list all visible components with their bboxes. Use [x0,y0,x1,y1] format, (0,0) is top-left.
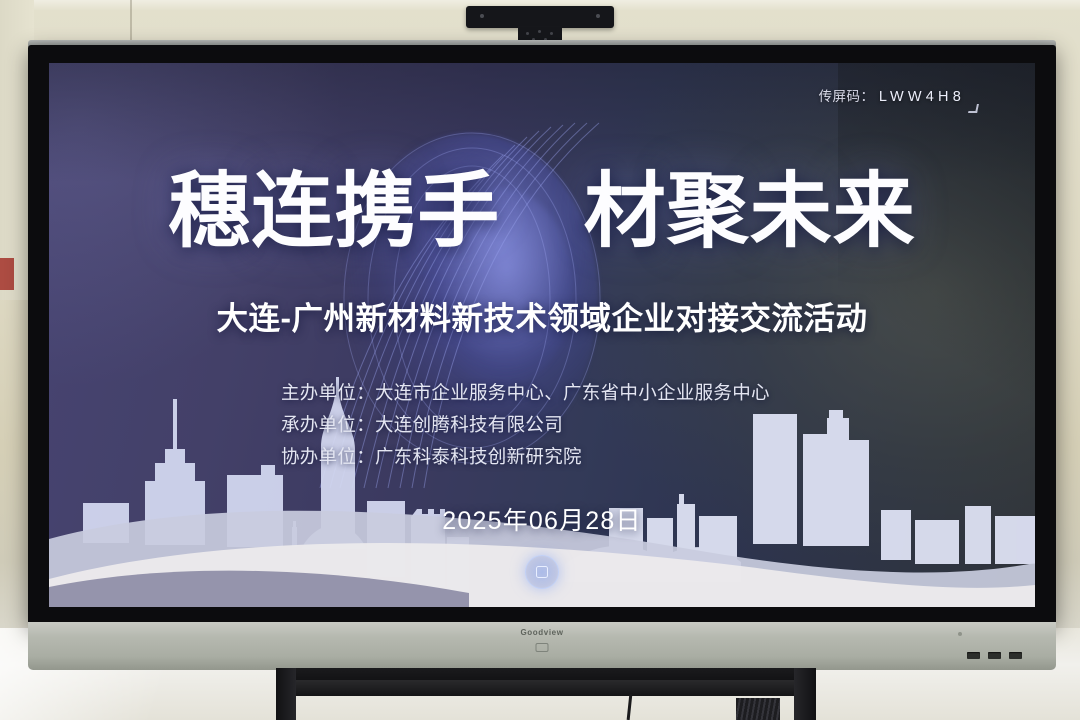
organizer-line: 主办单位：大连市企业服务中心、广东省中小企业服务中心 [281,377,770,409]
home-square-icon [536,566,548,578]
screen-share-code-label: 传屏码： [819,89,875,104]
slide-sub-title: 大连-广州新材料新技术领域企业对接交流活动 [49,293,1035,339]
bezel-home-button[interactable] [536,643,549,652]
stand-leg-left [276,668,296,720]
stand-vent-grille [736,698,780,720]
brand-logo-label: Goodview [28,628,1056,637]
ir-receiver-icon [958,632,962,636]
organizer-line: 协办单位：广东科泰科技创新研究院 [281,441,582,473]
slide-main-title: 穗连携手 材聚未来 [49,171,1035,253]
bezel-port-group[interactable] [967,652,1022,659]
organizer-list: 主办单位：大连市企业服务中心、广东省中小企业服务中心 承办单位：大连创腾科技有限… [49,377,1035,472]
organizer-line: 承办单位：大连创腾科技有限公司 [281,409,563,441]
corner-marker-icon [968,104,979,113]
camera-lens-left [480,14,484,18]
stand-cable [627,694,633,720]
bezel-port-3[interactable] [1009,652,1022,659]
display-floor-stand [276,668,816,720]
screen-share-code-value: LWW4H8 [879,89,965,105]
android-home-button[interactable] [525,555,559,589]
slide-main-title-part1: 穗连携手 [168,166,500,257]
slide-event-date: 2025年06月28日 [49,501,1035,537]
bezel-port-2[interactable] [988,652,1001,659]
camera-lens-right [596,14,600,18]
wall-red-marker [0,258,14,290]
screen-share-code: 传屏码： LWW4H8 [819,85,965,105]
display-device: 传屏码： LWW4H8 穗连携手 材聚未来 大连-广州新材料新技术领域企业对接交… [28,40,1056,672]
bezel-port-1[interactable] [967,652,980,659]
camera-soundbar-module [466,6,614,28]
slide-main-title-part2: 材聚未来 [584,166,916,257]
slide-text-layer: 传屏码： LWW4H8 穗连携手 材聚未来 大连-广州新材料新技术领域企业对接交… [49,63,1035,607]
display-screen[interactable]: 传屏码： LWW4H8 穗连携手 材聚未来 大连-广州新材料新技术领域企业对接交… [49,63,1035,607]
stand-leg-right [794,668,816,720]
stand-shelf-bar [290,680,802,696]
